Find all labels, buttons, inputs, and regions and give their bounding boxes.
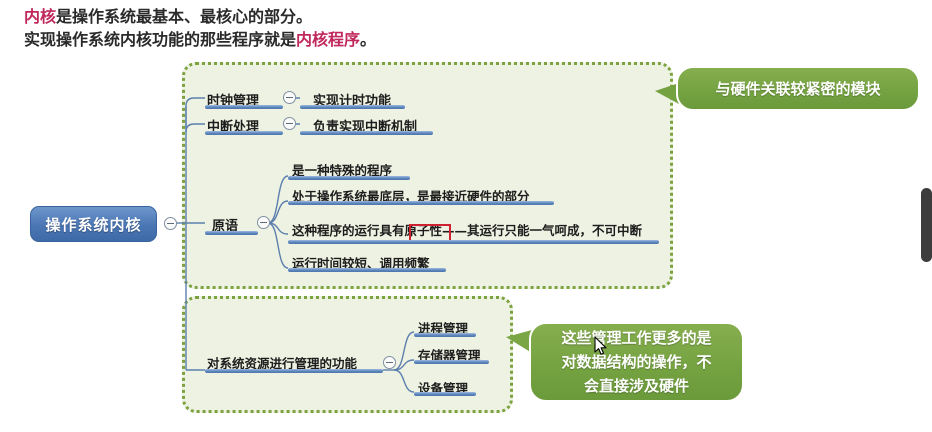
collapse-toggle-interrupt-handling[interactable]: [283, 117, 296, 130]
node-underline-interrupt-mechanism: [300, 131, 433, 135]
callout-top-text: 与硬件关联较紧密的模块: [715, 78, 880, 99]
intro-line-2-pre: 实现操作系统内核功能的那些程序就是: [24, 30, 296, 49]
node-underline-bottom-layer: [288, 201, 554, 205]
callout-bottom-line-1: 这些管理工作更多的是: [561, 326, 711, 350]
node-underline-primitive: [205, 231, 258, 235]
node-underline-process-management: [414, 333, 476, 337]
intro-text: 内核是操作系统最基本、最核心的部分。 实现操作系统内核功能的那些程序就是内核程序…: [24, 5, 724, 51]
node-underline-special-program: [288, 176, 410, 180]
mouse-cursor: [594, 336, 608, 356]
intro-line-1: 内核是操作系统最基本、最核心的部分。: [24, 5, 724, 28]
callout-hardware-related: 与硬件关联较紧密的模块: [676, 66, 920, 111]
node-underline-device-management: [414, 392, 476, 396]
callout-bottom-line-3: 会直接涉及硬件: [561, 374, 711, 398]
intro-keyword-kernel: 内核: [24, 7, 56, 26]
collapse-toggle-clock-management[interactable]: [283, 91, 296, 104]
intro-keyword-kernel-program: 内核程序: [296, 30, 360, 49]
node-underline-resource-management: [205, 369, 383, 373]
node-underline-timing-function: [300, 105, 405, 109]
callout-bottom-line-2: 对数据结构的操作，不: [561, 350, 711, 374]
node-label-atomicity-line[interactable]: 这种程序的运行具有原子性——其运行只能一气呵成，不可中断: [292, 220, 642, 239]
intro-line-1-rest: 是操作系统最基本、最核心的部分。: [56, 7, 312, 26]
node-underline-atomicity-line: [288, 240, 659, 244]
node-underline-clock-management: [205, 105, 283, 109]
root-node-label: 操作系统内核: [45, 214, 141, 235]
callout-data-structure-note: 这些管理工作更多的是 对数据结构的操作，不 会直接涉及硬件: [529, 322, 744, 402]
node-underline-storage-management: [414, 360, 489, 364]
node-label-atomicity-pre: 这种程序的运行具有: [292, 223, 405, 238]
intro-line-2-post: 。: [360, 30, 376, 49]
collapse-toggle-root[interactable]: [164, 217, 177, 230]
intro-line-2: 实现操作系统内核功能的那些程序就是内核程序。: [24, 28, 724, 51]
mindmap-canvas: 内核是操作系统最基本、最核心的部分。 实现操作系统内核功能的那些程序就是内核程序…: [0, 0, 932, 432]
vertical-scrollbar-thumb[interactable]: [921, 188, 932, 262]
collapse-toggle-primitive[interactable]: [257, 216, 270, 229]
root-node-os-kernel[interactable]: 操作系统内核: [30, 206, 157, 242]
collapse-toggle-resource-management[interactable]: [383, 356, 396, 369]
node-label-atomicity-post: ——其运行只能一气呵成，不可中断: [442, 223, 642, 238]
node-underline-interrupt-handling: [205, 131, 283, 135]
node-underline-short-runtime: [288, 268, 446, 272]
